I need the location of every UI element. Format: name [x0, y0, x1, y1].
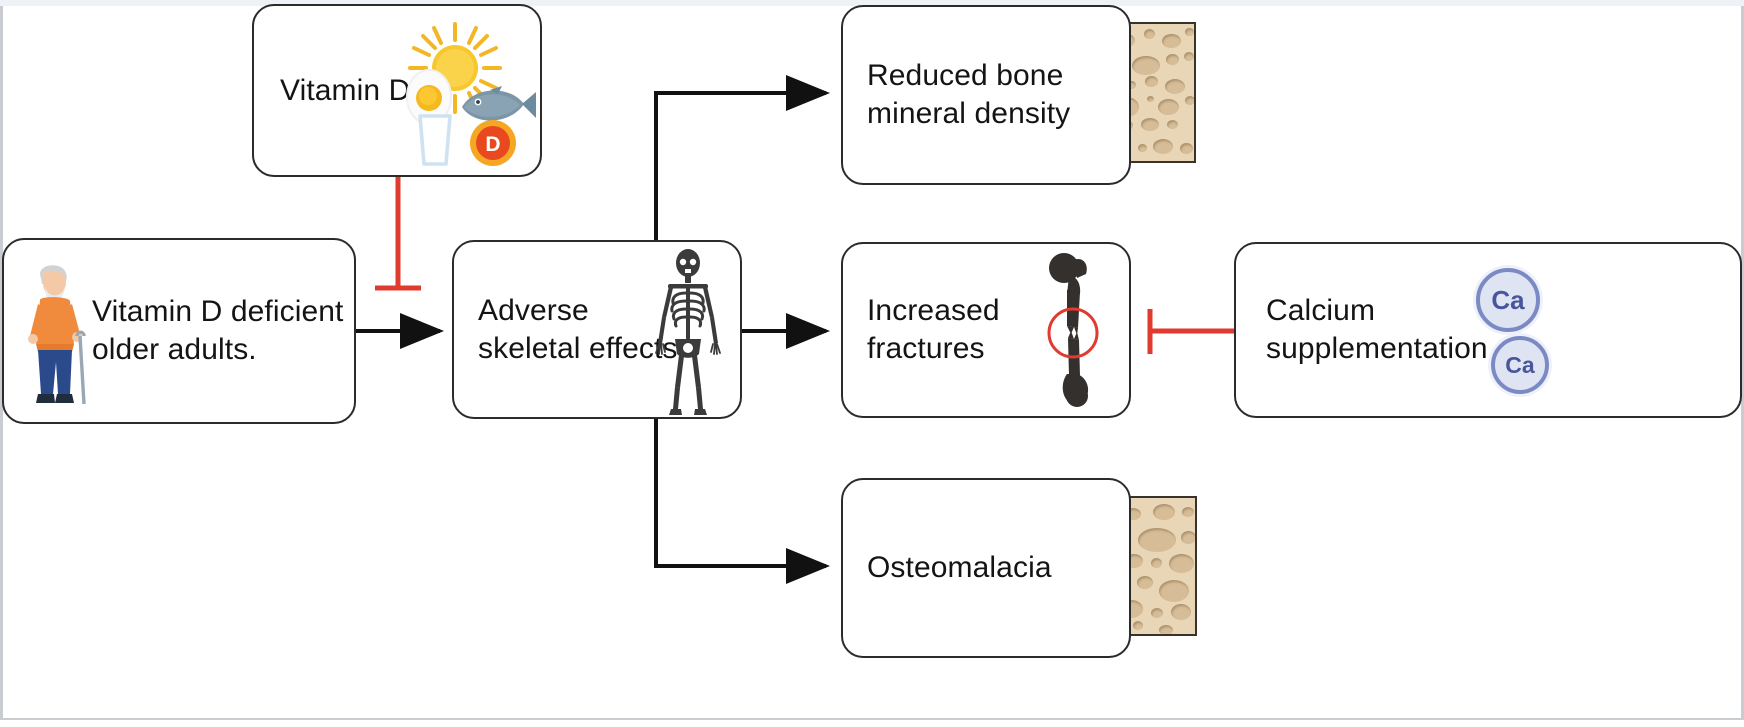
calcium-badge-icon-1: Ca — [1476, 268, 1540, 332]
node-adverse-skeletal-effects[interactable]: Adverse skeletal effects — [452, 240, 742, 419]
skeleton-icon — [642, 247, 734, 417]
node-osteomalacia[interactable]: Osteomalacia — [841, 478, 1131, 658]
vitamin-d-badge-icon: D — [468, 118, 518, 168]
node-reduced-bone-mineral-density[interactable]: Reduced bone mineral density — [841, 5, 1131, 185]
node-calcium-supplementation-label: Calcium supplementation — [1266, 292, 1488, 368]
node-vitamin-d[interactable]: Vitamin D — [252, 4, 542, 177]
node-vitamin-d-label: Vitamin D — [280, 72, 410, 110]
edge-adverse-to-osteomalacia — [656, 419, 826, 566]
edge-calcium-inhibition — [1150, 309, 1234, 354]
edge-adverse-to-bmd — [656, 93, 826, 240]
vitamin-d-badge-text: D — [485, 133, 500, 156]
node-deficient-older-adults-label: Vitamin D deficient older adults. — [92, 293, 343, 369]
edge-vitamind-inhibition — [375, 176, 421, 288]
node-osteomalacia-label: Osteomalacia — [867, 549, 1052, 587]
node-increased-fractures[interactable]: Increased fractures — [841, 242, 1131, 418]
node-calcium-supplementation[interactable]: Calcium supplementation Ca Ca — [1234, 242, 1742, 418]
node-reduced-bone-mineral-density-label: Reduced bone mineral density — [867, 57, 1070, 133]
elderly-person-icon — [20, 258, 96, 410]
fractured-bone-icon — [1031, 250, 1115, 412]
node-increased-fractures-label: Increased fractures — [867, 292, 1000, 368]
milk-glass-icon — [412, 112, 458, 168]
diagram-canvas: Vitamin D — [0, 0, 1744, 727]
node-deficient-older-adults[interactable]: Vitamin D deficient older adults. — [2, 238, 356, 424]
calcium-badge-icon-2: Ca — [1491, 336, 1549, 394]
